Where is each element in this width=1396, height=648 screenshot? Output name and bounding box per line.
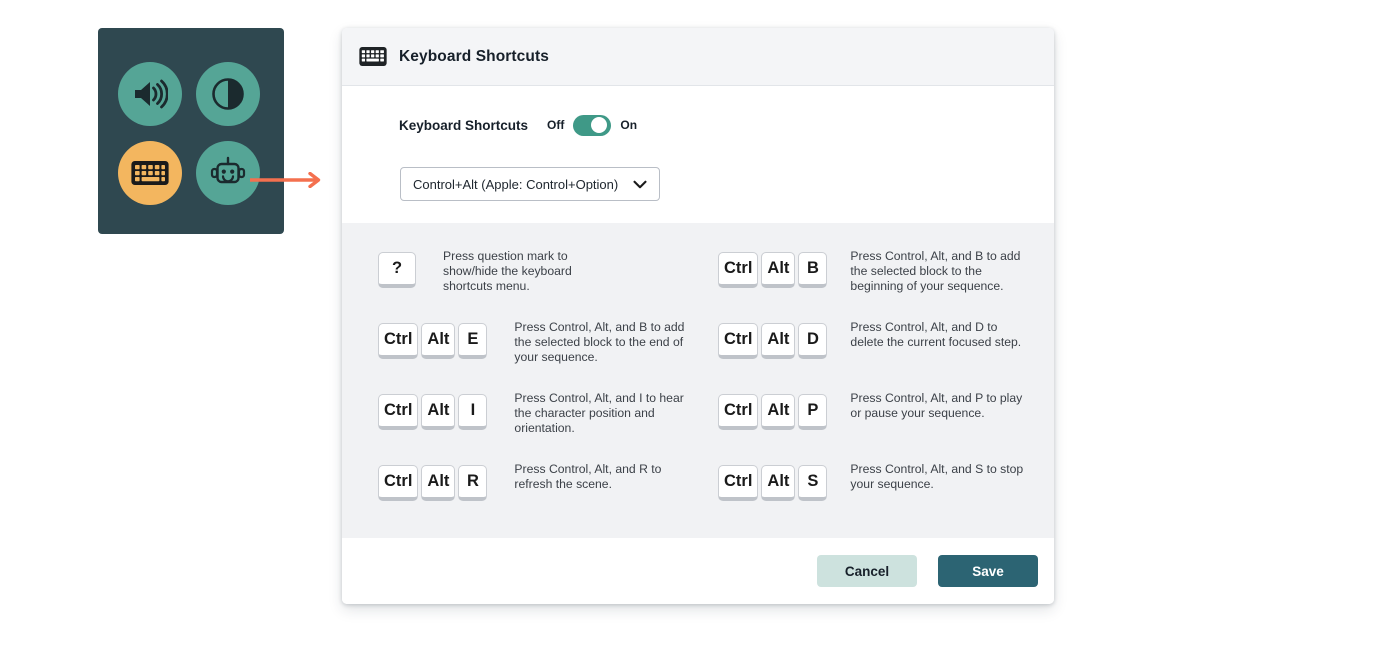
keycap: S (798, 465, 827, 501)
volume-icon (132, 79, 168, 109)
dialog-footer: Cancel Save (342, 538, 1054, 604)
keycap-group: CtrlAltS (718, 462, 827, 501)
shortcuts-grid: ?Press question mark to show/hide the ke… (378, 249, 1054, 533)
page-title: Keyboard Shortcuts (399, 48, 549, 66)
shortcut-description: Press Control, Alt, and P to play or pau… (850, 391, 1030, 421)
shortcut-row: CtrlAltRPress Control, Alt, and R to ref… (378, 462, 718, 533)
toggle-on-label: On (620, 118, 637, 132)
shortcut-row: CtrlAltBPress Control, Alt, and B to add… (718, 249, 1054, 320)
keycap: Ctrl (718, 394, 758, 430)
toggle-label: Keyboard Shortcuts (399, 118, 528, 133)
toggle-section: Keyboard Shortcuts Off On Control+Alt (A… (342, 86, 1054, 201)
keycap-group: CtrlAltE (378, 320, 487, 359)
keycap: Ctrl (718, 323, 758, 359)
keycap: Alt (421, 323, 455, 359)
keycap: Ctrl (378, 394, 418, 430)
shortcut-row: CtrlAltDPress Control, Alt, and D to del… (718, 320, 1054, 391)
keyboard-icon (359, 46, 387, 67)
keycap: Alt (761, 394, 795, 430)
keycap: B (798, 252, 827, 288)
robot-icon (209, 155, 247, 191)
dialog-header: Keyboard Shortcuts (342, 28, 1054, 86)
shortcut-scheme-select[interactable]: Control+Alt (Apple: Control+Option) (400, 167, 660, 201)
shortcut-row: CtrlAltPPress Control, Alt, and P to pla… (718, 391, 1054, 462)
contrast-icon-button[interactable] (196, 62, 260, 126)
cancel-button[interactable]: Cancel (817, 555, 917, 587)
keycap-group: ? (378, 249, 416, 288)
keycap: Ctrl (718, 465, 758, 501)
keycap: Ctrl (718, 252, 758, 288)
shortcut-row: CtrlAltSPress Control, Alt, and S to sto… (718, 462, 1054, 533)
shortcut-row: ?Press question mark to show/hide the ke… (378, 249, 718, 320)
toggle-off-label: Off (547, 118, 564, 132)
toggle-knob (591, 117, 607, 133)
keycap: Alt (761, 252, 795, 288)
shortcut-row: CtrlAltEPress Control, Alt, and B to add… (378, 320, 718, 391)
keycap: Alt (421, 465, 455, 501)
keycap: Ctrl (378, 323, 418, 359)
pointer-arrow-icon (250, 172, 326, 188)
keycap-group: CtrlAltB (718, 249, 827, 288)
shortcut-description: Press Control, Alt, and B to add the sel… (850, 249, 1030, 295)
shortcut-description: Press Control, Alt, and D to delete the … (850, 320, 1030, 350)
shortcut-description: Press Control, Alt, and S to stop your s… (850, 462, 1030, 492)
shortcut-description: Press Control, Alt, and I to hear the ch… (514, 391, 694, 437)
shortcut-scheme-value: Control+Alt (Apple: Control+Option) (413, 177, 633, 192)
select-wrapper: Control+Alt (Apple: Control+Option) (400, 167, 1054, 201)
accessibility-icon-panel (98, 28, 284, 234)
shortcuts-panel: ?Press question mark to show/hide the ke… (342, 223, 1054, 538)
keyboard-icon (130, 158, 170, 188)
keycap-group: CtrlAltD (718, 320, 827, 359)
keycap: D (798, 323, 827, 359)
keycap: Alt (761, 323, 795, 359)
keyboard-shortcuts-toggle[interactable] (573, 115, 611, 136)
volume-icon-button[interactable] (118, 62, 182, 126)
keycap: Alt (761, 465, 795, 501)
chevron-down-icon (633, 180, 647, 189)
save-button[interactable]: Save (938, 555, 1038, 587)
keycap-group: CtrlAltR (378, 462, 487, 501)
shortcut-row: CtrlAltIPress Control, Alt, and I to hea… (378, 391, 718, 462)
shortcut-description: Press question mark to show/hide the key… (443, 249, 623, 295)
shortcut-description: Press Control, Alt, and R to refresh the… (514, 462, 694, 492)
shortcut-description: Press Control, Alt, and B to add the sel… (514, 320, 694, 366)
keyboard-shortcuts-toggle-row: Keyboard Shortcuts Off On (399, 114, 1054, 136)
keycap-group: CtrlAltI (378, 391, 487, 430)
keycap-group: CtrlAltP (718, 391, 827, 430)
keyboard-shortcuts-dialog: Keyboard Shortcuts Keyboard Shortcuts Of… (342, 28, 1054, 604)
keycap: ? (378, 252, 416, 288)
keycap: R (458, 465, 487, 501)
keycap: P (798, 394, 827, 430)
keycap: Ctrl (378, 465, 418, 501)
keycap: I (458, 394, 487, 430)
keycap: Alt (421, 394, 455, 430)
contrast-icon (211, 77, 245, 111)
keycap: E (458, 323, 487, 359)
keyboard-icon-button[interactable] (118, 141, 182, 205)
